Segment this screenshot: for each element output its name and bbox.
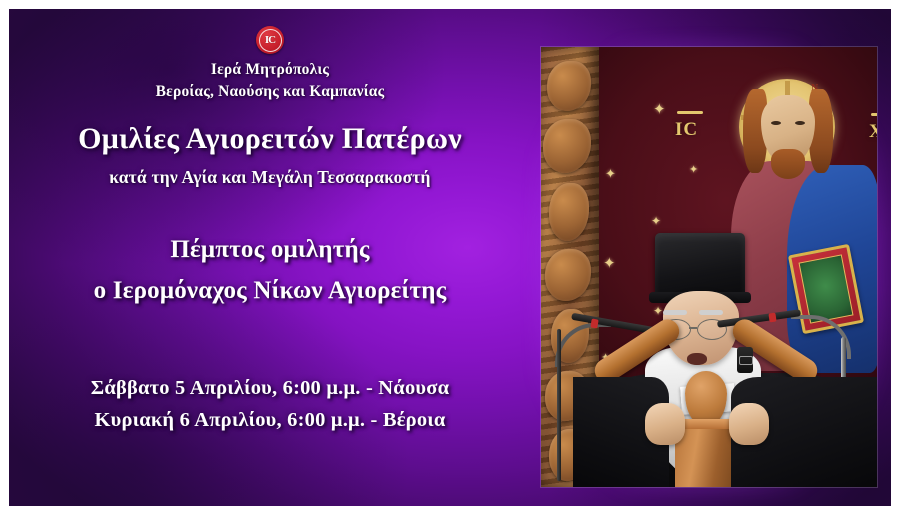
lectern-post <box>675 429 733 487</box>
metropolis-seal-icon: IC <box>256 26 284 54</box>
microphone-stand-left <box>557 329 561 481</box>
speaker-photo: ✦✦✦✦✦✦✦✦✦ Ν <box>541 47 877 487</box>
speaker-role: Πέμπτος ομιλητής <box>9 236 531 264</box>
speaker-name: ο Ιερομόναχος Νίκων Αγιορείτης <box>9 277 531 305</box>
monk-brow-left <box>663 310 687 315</box>
poster-text-column: IC Ιερά Μητρόπολις Βεροίας, Ναούσης και … <box>9 9 531 506</box>
emblem-container: IC <box>9 26 531 54</box>
event-line-2: Κυριακή 6 Απριλίου, 6:00 μ.μ. - Βέροια <box>9 409 531 432</box>
poster-panel: IC Ιερά Μητρόπολις Βεροίας, Ναούσης και … <box>9 9 891 506</box>
monk-hand-left <box>645 403 685 445</box>
poster-root: IC Ιερά Μητρόπολις Βεροίας, Ναούσης και … <box>0 0 900 519</box>
seal-monogram: IC <box>256 26 284 54</box>
page-title: Ομιλίες Αγιορειτών Πατέρων <box>9 122 531 157</box>
organization-line-1: Ιερά Μητρόπολις <box>9 59 531 81</box>
monk-brow-right <box>699 310 723 315</box>
organization-line-2: Βεροίας, Ναούσης και Καμπανίας <box>9 81 531 103</box>
kalimavkion-hat <box>655 233 745 299</box>
eagle-lectern-body <box>685 371 727 425</box>
microphone-clamp <box>737 347 753 373</box>
page-subtitle: κατά την Αγία και Μεγάλη Τεσσαρακοστή <box>9 167 531 188</box>
monk-hand-right <box>729 403 769 445</box>
microphone-marker-right <box>768 313 776 323</box>
monk-mouth <box>687 353 707 365</box>
organization-block: Ιερά Μητρόπολις Βεροίας, Ναούσης και Καμ… <box>9 59 531 103</box>
photo-inner: ✦✦✦✦✦✦✦✦✦ Ν <box>541 47 877 487</box>
event-line-1: Σάββατο 5 Απριλίου, 6:00 μ.μ. - Νάουσα <box>9 377 531 400</box>
glasses-bridge <box>689 327 697 329</box>
